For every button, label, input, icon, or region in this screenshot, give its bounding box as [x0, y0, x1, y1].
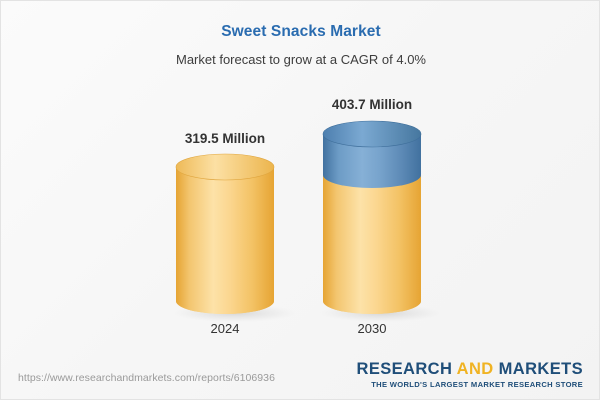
category-label-2030: 2030	[292, 321, 452, 336]
bar-2030	[323, 121, 421, 314]
logo-text-research: RESEARCH	[357, 360, 457, 378]
logo-text-markets: MARKETS	[494, 360, 583, 378]
bar-2024	[176, 154, 274, 314]
bar-value-label-2024: 319.5 Million	[145, 131, 305, 146]
logo-wordmark: RESEARCH AND MARKETS	[357, 361, 584, 378]
report-url[interactable]: https://www.researchandmarkets.com/repor…	[18, 372, 275, 384]
logo-text-and: AND	[457, 360, 494, 378]
category-label-2024: 2024	[145, 321, 305, 336]
chart-card: Sweet Snacks Market Market forecast to g…	[0, 0, 600, 400]
chart-plot-area: 319.5 Million 403.7 Million 2024 2030	[1, 1, 600, 346]
logo-tagline: THE WORLD'S LARGEST MARKET RESEARCH STOR…	[357, 380, 584, 389]
bar-value-label-2030: 403.7 Million	[292, 97, 452, 112]
research-and-markets-logo[interactable]: RESEARCH AND MARKETS THE WORLD'S LARGEST…	[357, 361, 584, 389]
cylinder-bar-chart	[1, 1, 600, 346]
